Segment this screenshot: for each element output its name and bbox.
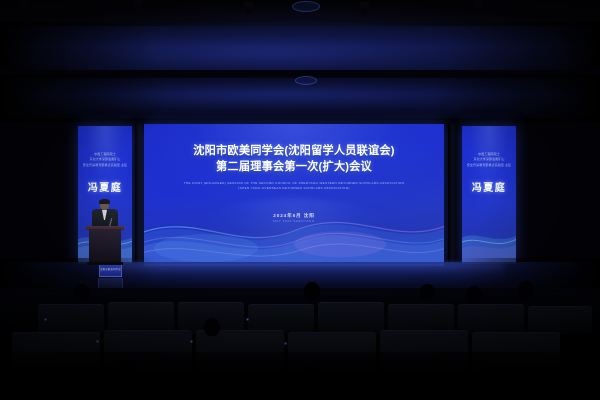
spotlight-icon [244,2,253,15]
date-chinese: 2024年5月 沈阳 [144,212,444,219]
right-panel-content: 中国工程院院士 东北大学深部金属矿山 安全开采教育部重点实验室 主任 冯夏庭 [462,126,516,264]
page-title-line-1: 沈阳市欧美同学会(沈阳留学人员联谊会) [193,144,394,159]
wall-emblem [295,76,317,85]
audience-head [204,318,220,336]
audience-head [420,284,435,300]
date-location-block: 2024年5月 沈阳 MAY 2024 SHENYANG [144,212,444,224]
audience-head [518,281,535,300]
right-panel-speaker-name: 冯夏庭 [472,179,506,194]
podium-body: 沈阳市欧美同学会 [89,229,121,263]
podium-with-speaker: 沈阳市欧美同学会 [84,198,126,268]
screen-bezel-left [135,124,144,266]
seat [528,306,592,334]
page-title-line-2: 第二届理事会第一次(扩大)会议 [216,160,372,175]
led-screen-assembly: 中国工程院院士 东北大学深部金属矿山 安全开采教育部重点实验室 主任 冯夏庭 [78,124,516,266]
left-panel-speaker-name: 冯夏庭 [88,179,122,194]
screen-bezel-right [448,124,457,266]
seat-indicator-light [96,340,99,343]
spotlight-icon [474,0,483,13]
speaker-hair [99,199,110,204]
affiliation-line: 安全开采教育部重点实验室 主任 [465,163,513,168]
podium-sign-text: 沈阳市欧美同学会 [100,268,121,271]
right-led-panel: 中国工程院院士 东北大学深部金属矿山 安全开采教育部重点实验室 主任 冯夏庭 [462,126,516,264]
spotlight-icon [134,0,143,13]
main-screen-content: 沈阳市欧美同学会(沈阳留学人员联谊会) 第二届理事会第一次(扩大)会议 THE … [144,124,444,266]
subtitle-english: THE FIRST (ENLARGED) SESSION OF THE SECO… [184,181,404,190]
seat [318,302,384,334]
audience-head [304,282,320,300]
seat [38,304,104,334]
ceiling-emblem [292,1,320,12]
date-english: MAY 2024 SHENYANG [144,219,444,224]
seat-indicator-light [284,342,287,345]
subtitle-line: (SHEN YANG OVERSEAS RETURNED SCHOLARS AS… [184,186,404,191]
podium-base [87,262,123,265]
subtitle-line: THE FIRST (ENLARGED) SESSION OF THE SECO… [184,181,404,186]
conference-hall-photo: 中国工程院院士 东北大学深部金属矿山 安全开采教育部重点实验室 主任 冯夏庭 [0,0,600,400]
seat-indicator-light [246,318,249,321]
main-led-screen: 沈阳市欧美同学会(沈阳留学人员联谊会) 第二届理事会第一次(扩大)会议 THE … [144,124,444,266]
seat-indicator-light [44,318,47,321]
affiliation-line: 安全开采教育部重点实验室 主任 [81,163,129,168]
spotlight-icon [360,2,369,15]
spotlight-icon [18,0,27,13]
podium-sign: 沈阳市欧美同学会 [99,264,122,277]
right-panel-affiliation: 中国工程院院士 东北大学深部金属矿山 安全开采教育部重点实验室 主任 [465,152,513,168]
audience-head [74,284,89,301]
seat-indicator-light [190,340,193,343]
foreground-darkness [0,352,600,400]
audience-head [466,286,482,304]
left-panel-affiliation: 中国工程院院士 东北大学深部金属矿山 安全开采教育部重点实验室 主任 [81,152,129,168]
seat [458,304,524,334]
